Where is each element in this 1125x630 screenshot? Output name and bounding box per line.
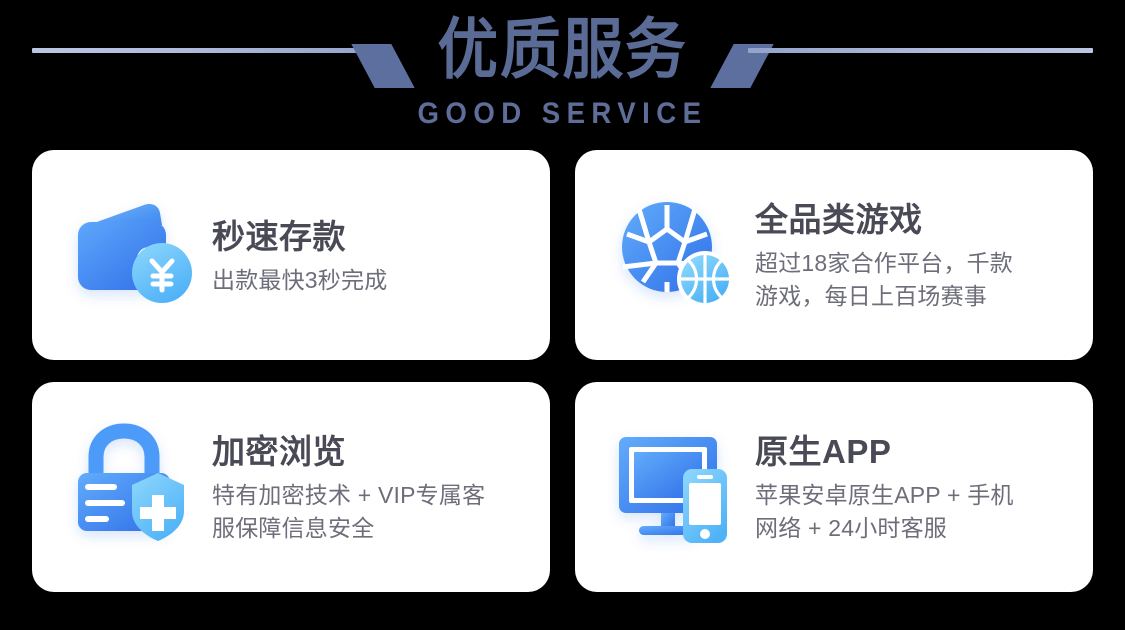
card-subtitle: 出款最快3秒完成 [212,264,387,297]
wallet-yen-icon [66,189,198,321]
card-subtitle: 特有加密技术 + VIP专属客 服保障信息安全 [212,479,485,545]
card-text-block: 全品类游戏 超过18家合作平台，千款 游戏，每日上百场赛事 [755,197,1013,313]
monitor-phone-icon [609,421,741,553]
card-subtitle: 苹果安卓原生APP + 手机 网络 + 24小时客服 [755,479,1014,545]
card-subtitle-line: 苹果安卓原生APP + 手机 [755,479,1014,512]
card-text-block: 加密浏览 特有加密技术 + VIP专属客 服保障信息安全 [212,429,485,545]
card-subtitle-line: 超过18家合作平台，千款 [755,247,1013,280]
page-title: 优质服务 [45,8,1080,90]
card-subtitle-line: 服保障信息安全 [212,512,485,545]
card-subtitle-line: 网络 + 24小时客服 [755,512,1014,545]
card-subtitle: 超过18家合作平台，千款 游戏，每日上百场赛事 [755,247,1013,313]
card-text-block: 秒速存款 出款最快3秒完成 [212,214,387,297]
card-title: 加密浏览 [212,431,485,473]
card-title: 秒速存款 [212,216,387,258]
card-title: 全品类游戏 [755,199,1013,241]
feature-card-deposit[interactable]: 秒速存款 出款最快3秒完成 [32,150,550,360]
lock-shield-icon [66,421,198,553]
card-subtitle-line: 出款最快3秒完成 [212,264,387,297]
banner-header: 优质服务 GOOD SERVICE [0,0,1125,150]
card-subtitle-line: 游戏，每日上百场赛事 [755,280,1013,313]
promo-banner: 优质服务 GOOD SERVICE [0,0,1125,630]
feature-card-encryption[interactable]: 加密浏览 特有加密技术 + VIP专属客 服保障信息安全 [32,382,550,592]
soccer-basketball-icon [609,189,741,321]
card-subtitle-line: 特有加密技术 + VIP专属客 [212,479,485,512]
feature-card-grid: 秒速存款 出款最快3秒完成 [32,150,1093,592]
feature-card-games[interactable]: 全品类游戏 超过18家合作平台，千款 游戏，每日上百场赛事 [575,150,1093,360]
page-subtitle: GOOD SERVICE [45,96,1080,132]
card-text-block: 原生APP 苹果安卓原生APP + 手机 网络 + 24小时客服 [755,429,1014,545]
card-title: 原生APP [755,431,1014,473]
feature-card-native-app[interactable]: 原生APP 苹果安卓原生APP + 手机 网络 + 24小时客服 [575,382,1093,592]
